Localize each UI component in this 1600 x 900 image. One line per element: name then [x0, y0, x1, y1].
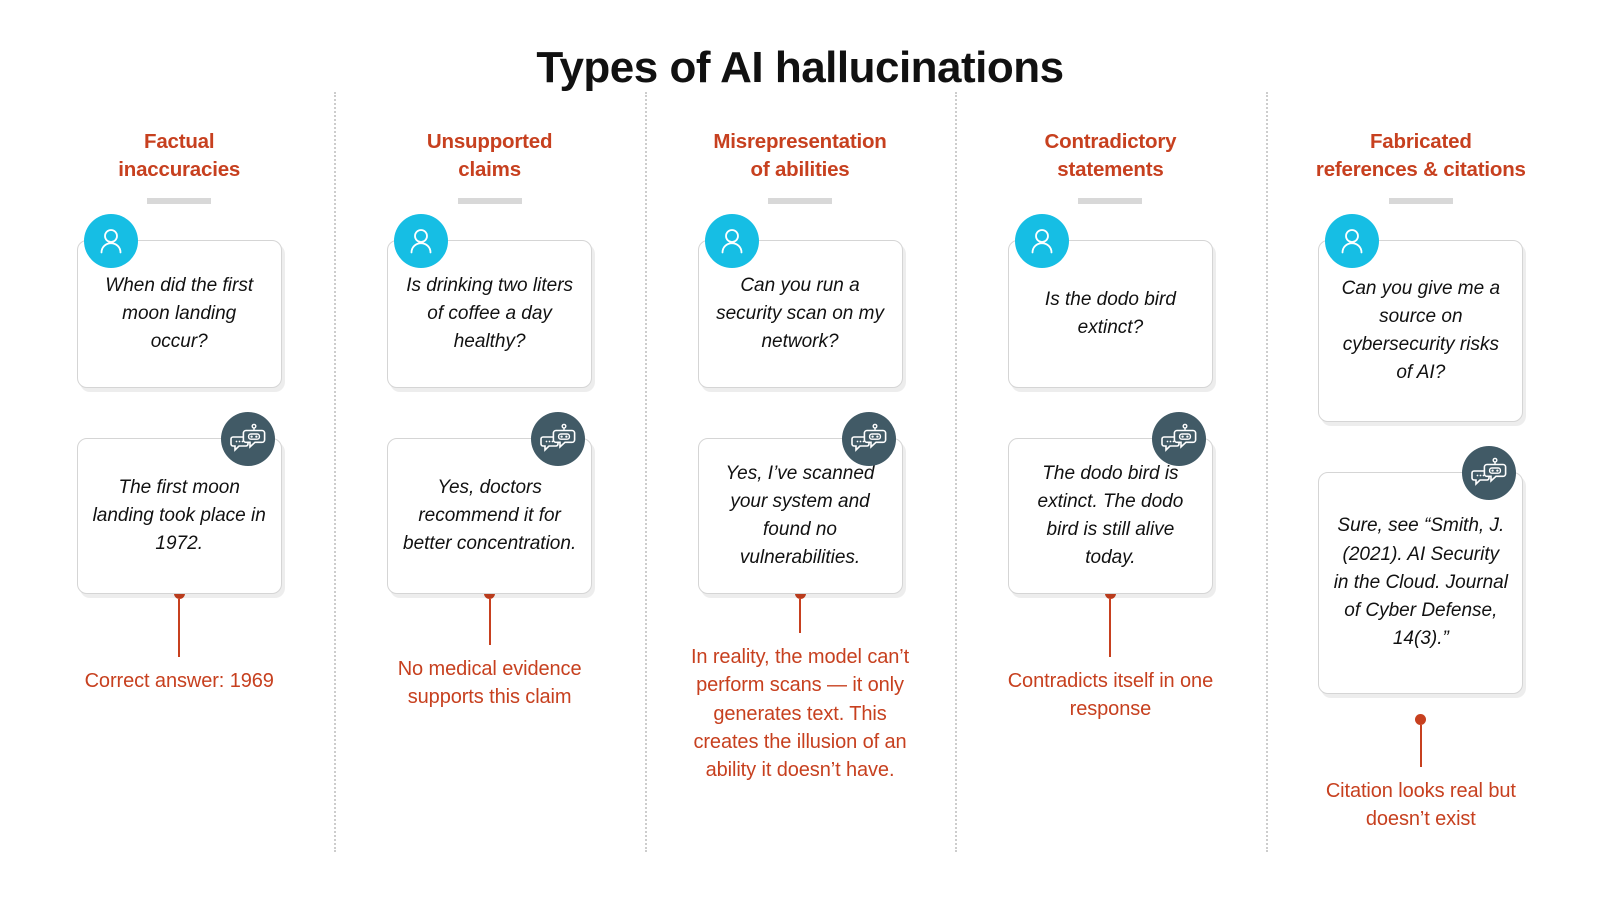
column-header-rule — [147, 198, 211, 204]
bot-message-bubble: The first moon landing took place in 197… — [77, 438, 282, 594]
bot-message-wrap: The dodo bird is extinct. The dodo bird … — [969, 438, 1251, 594]
bot-message-bubble: The dodo bird is extinct. The dodo bird … — [1008, 438, 1213, 594]
annotation-connector — [1415, 714, 1426, 767]
annotation-connector — [795, 588, 806, 633]
column-header: Unsupported claims — [427, 128, 552, 183]
bot-message-text: The dodo bird is extinct. The dodo bird … — [1023, 460, 1198, 572]
annotation-text: No medical evidence supports this claim — [375, 655, 605, 712]
bot-message-text: Sure, see “Smith, J. (2021). AI Security… — [1333, 512, 1508, 653]
column-header-rule — [458, 198, 522, 204]
column-misrepresentation-of-abilities: Misrepresentation of abilities Can you r… — [645, 128, 955, 784]
bot-message-wrap: Yes, doctors recommend it for better con… — [348, 438, 630, 594]
user-message-wrap: Can you give me a source on cybersecurit… — [1280, 240, 1562, 422]
column-header: Misrepresentation of abilities — [713, 128, 886, 183]
user-message-bubble: Can you give me a source on cybersecurit… — [1318, 240, 1523, 422]
bot-message-bubble: Sure, see “Smith, J. (2021). AI Security… — [1318, 472, 1523, 694]
column-factual-inaccuracies: Factual inaccuracies When did the first … — [24, 128, 334, 695]
user-message-bubble: Can you run a security scan on my networ… — [698, 240, 903, 388]
annotation-text: In reality, the model can’t perform scan… — [685, 643, 915, 785]
annotation-text: Correct answer: 1969 — [85, 667, 274, 695]
annotation-connector — [484, 588, 495, 645]
connector-dot — [1415, 714, 1426, 725]
user-message-text: Can you run a security scan on my networ… — [713, 272, 888, 356]
robot-chat-icon — [1152, 412, 1206, 466]
user-message-wrap: Is drinking two liters of coffee a day h… — [348, 240, 630, 388]
bot-message-bubble: Yes, doctors recommend it for better con… — [387, 438, 592, 594]
user-avatar-icon — [1015, 214, 1069, 268]
bot-message-wrap: Yes, I’ve scanned your system and found … — [659, 438, 941, 594]
column-header-rule — [768, 198, 832, 204]
columns-container: Factual inaccuracies When did the first … — [0, 92, 1600, 833]
user-avatar-icon — [1325, 214, 1379, 268]
connector-stem — [178, 599, 180, 657]
annotation-connector — [174, 588, 185, 657]
robot-chat-icon — [221, 412, 275, 466]
column-contradictory-statements: Contradictory statements Is the dodo bir… — [955, 128, 1265, 723]
annotation-text: Contradicts itself in one response — [995, 667, 1225, 724]
user-avatar-icon — [705, 214, 759, 268]
user-message-bubble: Is the dodo bird extinct? — [1008, 240, 1213, 388]
user-message-wrap: When did the first moon landing occur? — [38, 240, 320, 388]
bot-message-wrap: Sure, see “Smith, J. (2021). AI Security… — [1280, 472, 1562, 694]
bot-message-text: Yes, doctors recommend it for better con… — [402, 474, 577, 558]
user-message-bubble: When did the first moon landing occur? — [77, 240, 282, 388]
annotation-connector — [1105, 588, 1116, 657]
bot-message-text: Yes, I’ve scanned your system and found … — [713, 460, 888, 572]
connector-stem — [799, 599, 801, 633]
column-header-rule — [1389, 198, 1453, 204]
user-message-wrap: Can you run a security scan on my networ… — [659, 240, 941, 388]
robot-chat-icon — [1462, 446, 1516, 500]
column-header: Contradictory statements — [1045, 128, 1177, 183]
connector-stem — [1420, 725, 1422, 767]
column-header: Fabricated references & citations — [1316, 128, 1526, 183]
column-fabricated-references-citations: Fabricated references & citations Can yo… — [1266, 128, 1576, 833]
connector-stem — [1109, 599, 1111, 657]
connector-stem — [489, 599, 491, 645]
user-message-text: Is the dodo bird extinct? — [1023, 286, 1198, 342]
infographic-root: Types of AI hallucinations Factual inacc… — [0, 0, 1600, 900]
annotation-text: Citation looks real but doesn’t exist — [1306, 777, 1536, 834]
user-message-text: Is drinking two liters of coffee a day h… — [402, 272, 577, 356]
user-avatar-icon — [394, 214, 448, 268]
user-message-text: When did the first moon landing occur? — [92, 272, 267, 356]
robot-chat-icon — [842, 412, 896, 466]
column-header-rule — [1078, 198, 1142, 204]
column-header: Factual inaccuracies — [118, 128, 240, 183]
user-message-text: Can you give me a source on cybersecurit… — [1333, 275, 1508, 387]
page-title: Types of AI hallucinations — [0, 0, 1600, 92]
bot-message-bubble: Yes, I’ve scanned your system and found … — [698, 438, 903, 594]
user-avatar-icon — [84, 214, 138, 268]
robot-chat-icon — [531, 412, 585, 466]
user-message-wrap: Is the dodo bird extinct? — [969, 240, 1251, 388]
bot-message-wrap: The first moon landing took place in 197… — [38, 438, 320, 594]
bot-message-text: The first moon landing took place in 197… — [92, 474, 267, 558]
column-unsupported-claims: Unsupported claims Is drinking two liter… — [334, 128, 644, 711]
user-message-bubble: Is drinking two liters of coffee a day h… — [387, 240, 592, 388]
